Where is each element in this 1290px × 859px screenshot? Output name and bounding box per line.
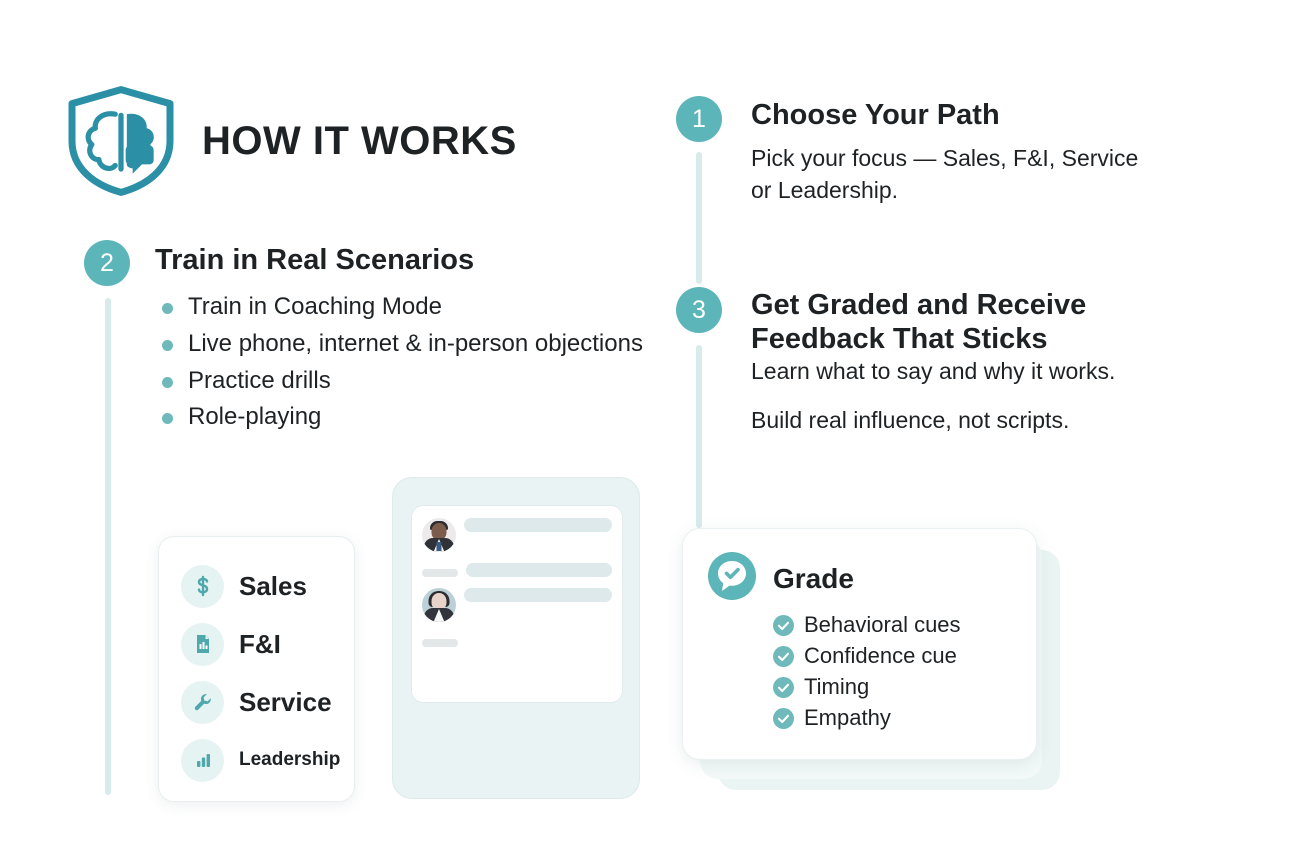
chat-bubble (464, 588, 612, 602)
check-circle-icon (773, 708, 794, 729)
step-2-badge: 2 (84, 240, 130, 286)
path-label: Leadership (239, 749, 340, 771)
chat-mockup-device (392, 477, 640, 799)
infographic-canvas: HOW IT WORKS 1 Choose Your Path Pick you… (0, 0, 1290, 859)
document-icon (181, 623, 224, 666)
chat-message-row (422, 518, 612, 552)
list-item: Behavioral cues (773, 612, 1036, 638)
grade-item-label: Behavioral cues (804, 612, 961, 638)
chat-message-row (422, 588, 612, 622)
grade-item-label: Confidence cue (804, 643, 957, 669)
chat-message-row (422, 563, 612, 577)
dollar-icon (181, 565, 224, 608)
step-1-badge: 1 (676, 96, 722, 142)
bullet-label: Train in Coaching Mode (188, 293, 442, 320)
check-circle-icon (773, 677, 794, 698)
page-title: HOW IT WORKS (202, 119, 517, 164)
grade-card-stack: Grade Behavioral cues Confidence cue (682, 528, 1060, 790)
grade-item-label: Timing (804, 674, 869, 700)
shield-brain-icon (62, 85, 180, 197)
step-1: 1 Choose Your Path Pick your focus — Sal… (676, 96, 1146, 206)
avatar (422, 518, 456, 552)
chat-bubble (466, 563, 612, 577)
list-item: Train in Coaching Mode (155, 291, 644, 323)
list-item: Timing (773, 674, 1036, 700)
list-item: Empathy (773, 705, 1036, 731)
step-3-body-2: Build real influence, not scripts. (751, 405, 1176, 437)
avatar (422, 588, 456, 622)
check-circle-icon (773, 615, 794, 636)
paths-card: Sales F&I Service (158, 536, 355, 802)
grade-card-header: Grade (707, 551, 1036, 606)
bullet-dot-icon (162, 413, 173, 424)
path-label: Sales (239, 571, 307, 602)
grade-item-label: Empathy (804, 705, 891, 731)
step-2-title: Train in Real Scenarios (155, 243, 644, 277)
step-3-body-1: Learn what to say and why it works. (751, 356, 1176, 388)
chat-mockup-screen (411, 505, 623, 703)
list-item: Practice drills (155, 365, 644, 397)
path-item-sales[interactable]: Sales (159, 557, 354, 615)
wrench-icon (181, 681, 224, 724)
grade-card-title: Grade (773, 563, 854, 595)
step-1-body: Pick your focus — Sales, F&I, Service or… (751, 143, 1146, 206)
bullet-dot-icon (162, 377, 173, 388)
list-item: Role-playing (155, 401, 644, 433)
bullet-dot-icon (162, 340, 173, 351)
path-item-fi[interactable]: F&I (159, 615, 354, 673)
bar-chart-icon (181, 739, 224, 782)
path-item-service[interactable]: Service (159, 673, 354, 731)
path-item-leadership[interactable]: Leadership (159, 731, 354, 789)
header: HOW IT WORKS (62, 85, 517, 197)
step-2-bullet-list: Train in Coaching Mode Live phone, inter… (155, 291, 644, 433)
bullet-label: Live phone, internet & in-person objecti… (188, 330, 643, 357)
bullet-label: Role-playing (188, 403, 321, 430)
check-circle-icon (773, 646, 794, 667)
chat-bubble (464, 518, 612, 532)
avatar-placeholder (422, 639, 458, 647)
step-3: 3 Get Graded and Receive Feedback That S… (676, 287, 1176, 436)
step-1-title: Choose Your Path (751, 98, 1146, 132)
path-label: Service (239, 687, 332, 718)
step-3-title: Get Graded and Receive Feedback That Sti… (751, 288, 1176, 356)
list-item: Confidence cue (773, 643, 1036, 669)
check-bubble-icon (707, 551, 757, 606)
bullet-dot-icon (162, 303, 173, 314)
step-3-badge: 3 (676, 287, 722, 333)
path-label: F&I (239, 629, 281, 660)
bullet-label: Practice drills (188, 367, 331, 394)
list-item: Live phone, internet & in-person objecti… (155, 328, 644, 360)
grade-checklist: Behavioral cues Confidence cue Timing (773, 612, 1036, 731)
avatar-placeholder (422, 569, 458, 577)
grade-card: Grade Behavioral cues Confidence cue (682, 528, 1037, 760)
chat-message-row (422, 633, 612, 647)
step-2: 2 Train in Real Scenarios Train in Coach… (84, 240, 644, 438)
